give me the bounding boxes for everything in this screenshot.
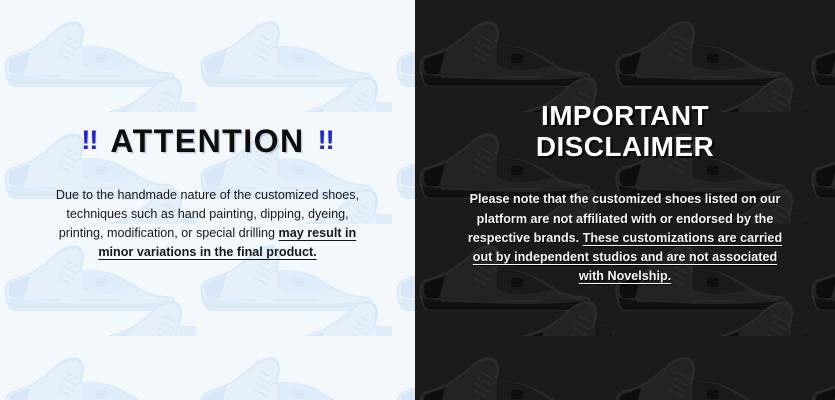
attention-panel: !! ATTENTION !! Due to the handmade natu… [0,0,415,400]
attention-content: !! ATTENTION !! Due to the handmade natu… [0,0,415,400]
disclaimer-heading-line1: IMPORTANT [536,101,714,131]
attention-body: Due to the handmade nature of the custom… [48,186,368,263]
disclaimer-content: IMPORTANT DISCLAIMER Please note that th… [415,0,835,400]
disclaimer-heading-line2: DISCLAIMER [536,132,714,162]
attention-title: ATTENTION [110,125,304,157]
attention-heading: !! ATTENTION !! [81,125,333,157]
exclamation-left-icon: !! [81,127,97,154]
disclaimer-banner: !! ATTENTION !! Due to the handmade natu… [0,0,835,400]
disclaimer-heading: IMPORTANT DISCLAIMER [536,101,714,161]
disclaimer-body: Please note that the customized shoes li… [464,190,786,286]
exclamation-right-icon: !! [318,127,334,154]
disclaimer-panel: IMPORTANT DISCLAIMER Please note that th… [415,0,835,400]
